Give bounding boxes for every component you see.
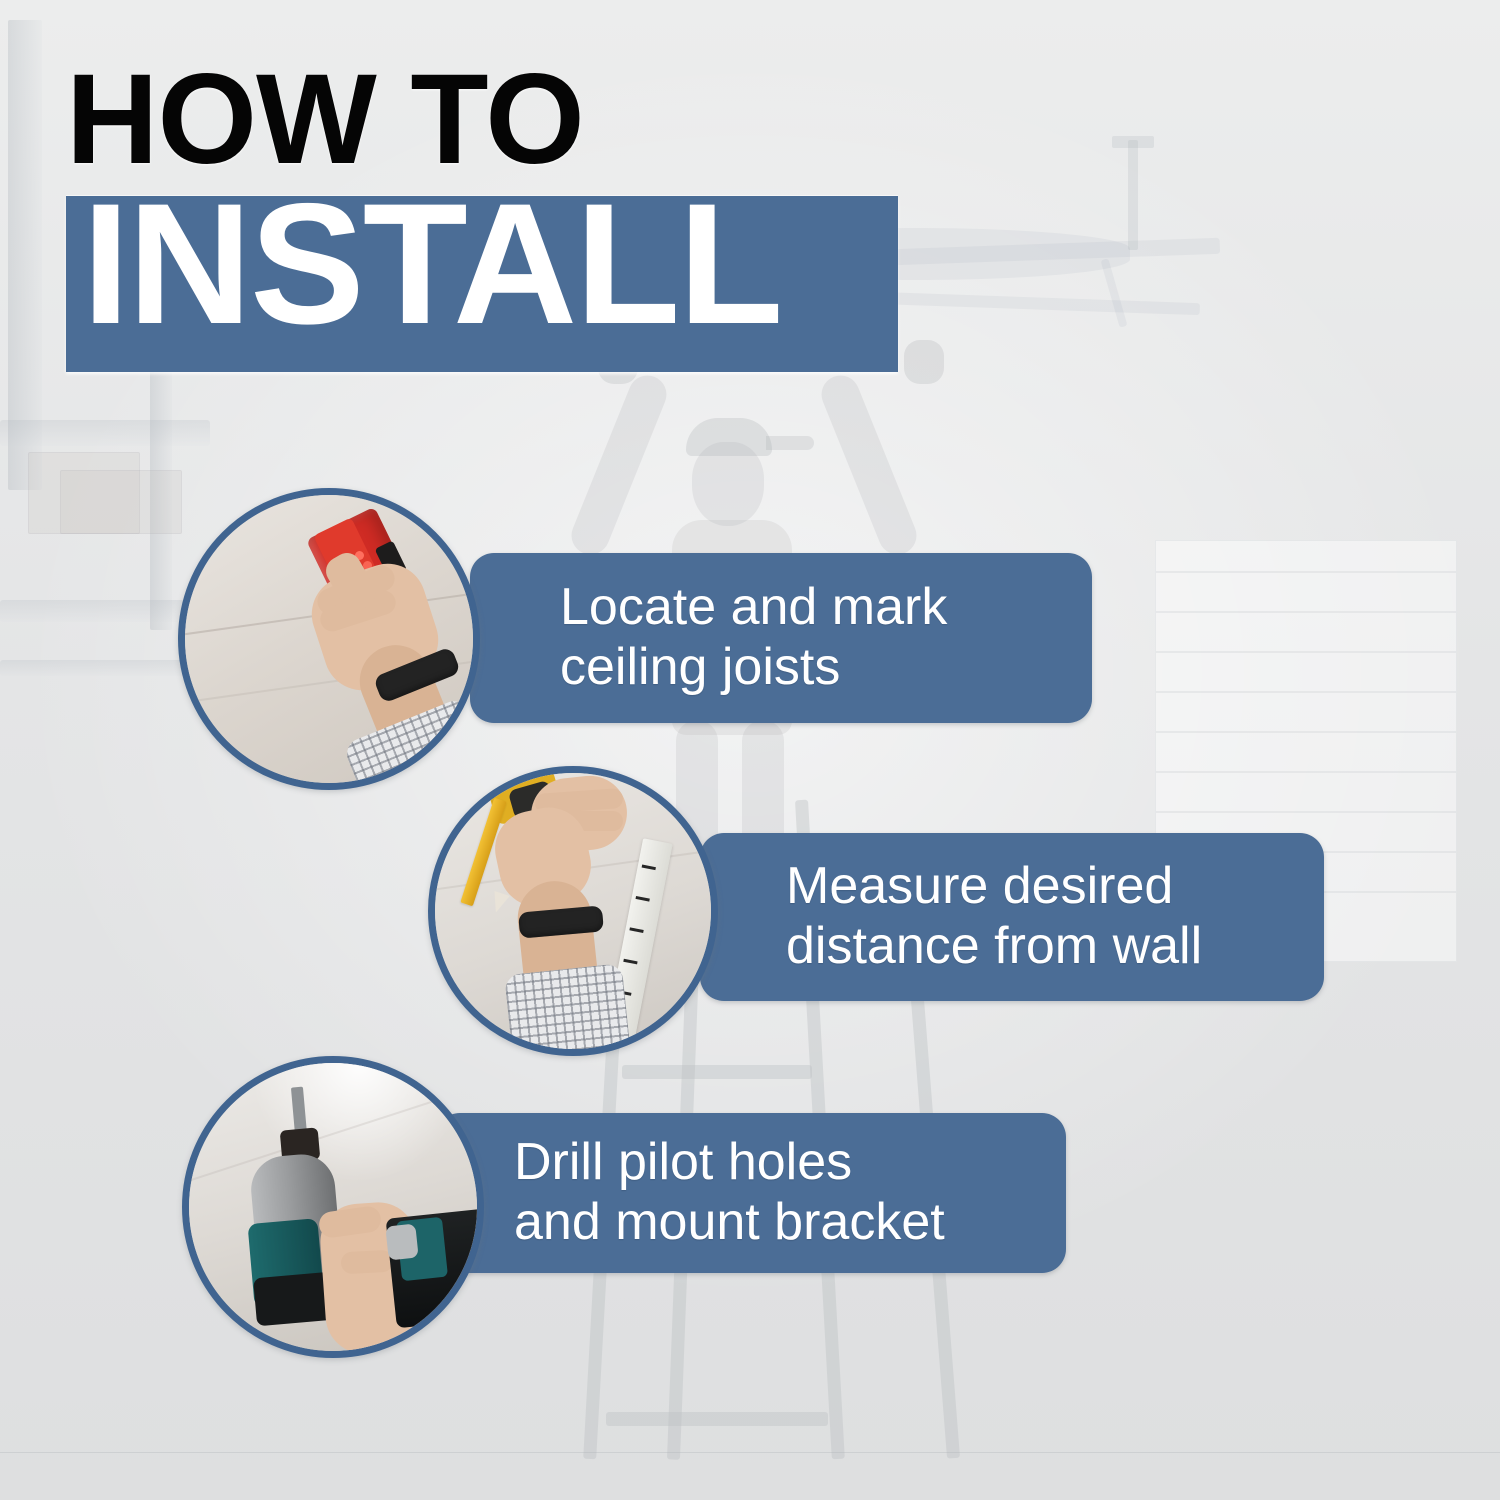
ladder-step bbox=[606, 1412, 828, 1426]
person-cap-brim bbox=[766, 436, 814, 450]
window-blind-slat bbox=[1156, 731, 1456, 733]
step-3-label: Drill pilot holes and mount bracket bbox=[514, 1133, 945, 1253]
page-title-line2: INSTALL bbox=[82, 176, 781, 352]
impact-driver-on-ceiling-photo bbox=[189, 1063, 477, 1351]
window-blind-slat bbox=[1156, 651, 1456, 653]
person-head bbox=[692, 442, 764, 526]
step-1-label: Locate and mark ceiling joists bbox=[560, 578, 947, 698]
step-2-photo bbox=[428, 766, 718, 1056]
step-3-photo bbox=[182, 1056, 484, 1358]
tape-measure-tick bbox=[629, 927, 643, 933]
window-blind-slat bbox=[1156, 691, 1456, 693]
window-blind-slat bbox=[1156, 811, 1456, 813]
stud-finder-on-ceiling-photo bbox=[185, 495, 473, 783]
shelving-beam-upper bbox=[0, 420, 210, 446]
page-title-line1: HOW TO bbox=[66, 56, 584, 184]
step-2-label-pill: Measure desired distance from wall bbox=[700, 833, 1324, 1001]
step-1-label-pill: Locate and mark ceiling joists bbox=[470, 553, 1092, 723]
storage-box-2 bbox=[60, 470, 182, 534]
ceiling-hanger-plate bbox=[1112, 136, 1154, 148]
tape-measure-on-ceiling-photo bbox=[435, 773, 711, 1049]
page-title-highlight-bar: INSTALL bbox=[66, 196, 898, 372]
shirt-cuff bbox=[504, 963, 632, 1056]
driver-battery-latch bbox=[385, 1224, 418, 1261]
tape-measure-tick bbox=[636, 896, 650, 902]
person-hand-right bbox=[904, 340, 944, 384]
tape-measure-tick bbox=[642, 865, 656, 871]
step-1-photo bbox=[178, 488, 480, 790]
step-2-label: Measure desired distance from wall bbox=[786, 857, 1202, 977]
how-to-install-infographic: HOW TO INSTALL Locate and mark ceiling j… bbox=[0, 0, 1500, 1500]
window-blind-slat bbox=[1156, 571, 1456, 573]
step-3-label-pill: Drill pilot holes and mount bracket bbox=[436, 1113, 1066, 1273]
knuckle bbox=[340, 1250, 393, 1275]
floor-horizon-line bbox=[0, 1452, 1500, 1453]
window-blind-slat bbox=[1156, 611, 1456, 613]
window-blind-slat bbox=[1156, 771, 1456, 773]
ceiling-hanger-rod bbox=[1128, 140, 1138, 250]
tape-measure-tick bbox=[623, 959, 637, 965]
ladder-step bbox=[622, 1065, 812, 1079]
